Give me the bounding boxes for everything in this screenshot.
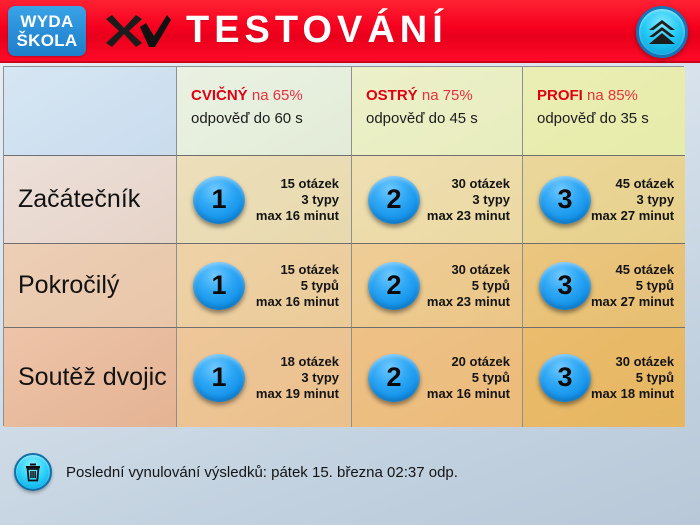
stat-duration: max 19 minut (245, 386, 339, 402)
page-title: TESTOVÁNÍ (186, 9, 448, 52)
cross-check-icon (102, 11, 172, 51)
logo-line-2: ŠKOLA (17, 31, 78, 50)
stat-questions: 30 otázek (591, 354, 674, 370)
stat-duration: max 18 minut (591, 386, 674, 402)
stat-duration: max 27 minut (591, 208, 674, 224)
last-reset-status: Poslední vynulování výsledků: pátek 15. … (66, 464, 458, 481)
stat-types: 5 typů (420, 370, 510, 386)
table-cell-pokrocily-ostry[interactable]: 2 30 otázek 5 typů max 23 minut (351, 243, 522, 327)
column-threshold: na 75% (422, 87, 473, 104)
stat-types: 3 typy (245, 370, 339, 386)
mode-badge[interactable]: 3 (539, 354, 591, 402)
stat-types: 5 typů (420, 278, 510, 294)
test-modes-table: CVIČNÝ na 65% odpověď do 60 s OSTRÝ na 7… (3, 66, 684, 426)
mode-stats: 45 otázek 3 typy max 27 minut (591, 176, 674, 224)
row-label-soutez-dvojic: Soutěž dvojic (4, 327, 176, 427)
column-header-profi: PROFI na 85% odpověď do 35 s (522, 67, 685, 155)
mode-stats: 30 otázek 5 typů max 18 minut (591, 354, 674, 402)
column-header-title: PROFI na 85% (537, 85, 685, 107)
mode-stats: 30 otázek 5 typů max 23 minut (420, 262, 510, 310)
table-cell-zacatecnik-ostry[interactable]: 2 30 otázek 3 typy max 23 minut (351, 155, 522, 243)
trash-icon[interactable] (14, 453, 52, 491)
stat-questions: 18 otázek (245, 354, 339, 370)
stat-types: 5 typů (591, 370, 674, 386)
column-header-title: OSTRÝ na 75% (366, 85, 522, 107)
stat-types: 3 typy (591, 192, 674, 208)
mode-badge[interactable]: 3 (539, 262, 591, 310)
row-label-zacatecnik: Začátečník (4, 155, 176, 243)
table-cell-pokrocily-profi[interactable]: 3 45 otázek 5 typů max 27 minut (522, 243, 685, 327)
stat-questions: 15 otázek (245, 176, 339, 192)
stat-questions: 30 otázek (420, 176, 510, 192)
mode-stats: 15 otázek 3 typy max 16 minut (245, 176, 339, 224)
stat-questions: 45 otázek (591, 176, 674, 192)
stat-questions: 30 otázek (420, 262, 510, 278)
stat-questions: 20 otázek (420, 354, 510, 370)
column-level-name: OSTRÝ (366, 87, 418, 104)
mode-stats: 20 otázek 5 typů max 16 minut (420, 354, 510, 402)
table-cell-soutez-ostry[interactable]: 2 20 otázek 5 typů max 16 minut (351, 327, 522, 427)
footer-bar: Poslední vynulování výsledků: pátek 15. … (0, 448, 700, 496)
table-cell-zacatecnik-cvicny[interactable]: 1 15 otázek 3 typy max 16 minut (176, 155, 351, 243)
mode-stats: 18 otázek 3 typy max 19 minut (245, 354, 339, 402)
table-corner-cell (4, 67, 176, 155)
mode-badge[interactable]: 1 (193, 354, 245, 402)
table-cell-soutez-profi[interactable]: 3 30 otázek 5 typů max 18 minut (522, 327, 685, 427)
column-header-cvicny: CVIČNÝ na 65% odpověď do 60 s (176, 67, 351, 155)
stat-duration: max 23 minut (420, 208, 510, 224)
table-cell-zacatecnik-profi[interactable]: 3 45 otázek 3 typy max 27 minut (522, 155, 685, 243)
stat-types: 5 typů (591, 278, 674, 294)
table-cell-soutez-cvicny[interactable]: 1 18 otázek 3 typy max 19 minut (176, 327, 351, 427)
stat-duration: max 16 minut (245, 294, 339, 310)
stat-types: 5 typů (245, 278, 339, 294)
column-time-limit: odpověď do 60 s (191, 107, 351, 130)
column-level-name: CVIČNÝ (191, 87, 248, 104)
column-level-name: PROFI (537, 87, 583, 104)
column-time-limit: odpověď do 45 s (366, 107, 522, 130)
stat-questions: 15 otázek (245, 262, 339, 278)
mode-badge[interactable]: 1 (193, 262, 245, 310)
mode-stats: 15 otázek 5 typů max 16 minut (245, 262, 339, 310)
row-label-pokrocily: Pokročilý (4, 243, 176, 327)
column-header-title: CVIČNÝ na 65% (191, 85, 351, 107)
stat-types: 3 typy (245, 192, 339, 208)
stat-questions: 45 otázek (591, 262, 674, 278)
stat-duration: max 27 minut (591, 294, 674, 310)
mode-badge[interactable]: 2 (368, 262, 420, 310)
mode-badge[interactable]: 3 (539, 176, 591, 224)
stat-types: 3 typy (420, 192, 510, 208)
double-chevron-up-icon[interactable] (636, 6, 688, 58)
column-threshold: na 65% (252, 87, 303, 104)
mode-badge[interactable]: 1 (193, 176, 245, 224)
stat-duration: max 16 minut (420, 386, 510, 402)
mode-stats: 45 otázek 5 typů max 27 minut (591, 262, 674, 310)
mode-badge[interactable]: 2 (368, 176, 420, 224)
app-header: WYDA ŠKOLA TESTOVÁNÍ (0, 0, 700, 63)
table-cell-pokrocily-cvicny[interactable]: 1 15 otázek 5 typů max 16 minut (176, 243, 351, 327)
mode-badge[interactable]: 2 (368, 354, 420, 402)
logo-line-1: WYDA (20, 12, 73, 31)
mode-stats: 30 otázek 3 typy max 23 minut (420, 176, 510, 224)
stat-duration: max 23 minut (420, 294, 510, 310)
column-threshold: na 85% (587, 87, 638, 104)
stat-duration: max 16 minut (245, 208, 339, 224)
column-time-limit: odpověď do 35 s (537, 107, 685, 130)
wyda-skola-logo[interactable]: WYDA ŠKOLA (8, 6, 86, 56)
column-header-ostry: OSTRÝ na 75% odpověď do 45 s (351, 67, 522, 155)
